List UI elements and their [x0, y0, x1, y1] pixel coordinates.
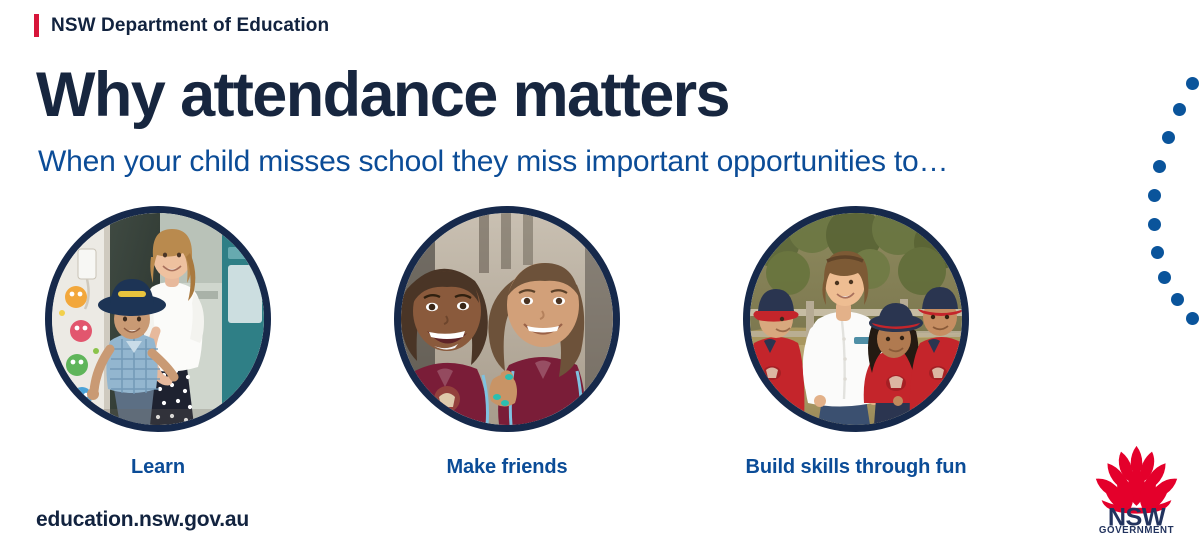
photo-build-skills: [750, 213, 962, 425]
decor-dot: [1162, 131, 1175, 144]
photo-make-friends: [401, 213, 613, 425]
nsw-government-logo: NSW GOVERNMENT: [1088, 440, 1185, 533]
page-title: Why attendance matters: [36, 58, 729, 132]
photo-card-make-friends: Make friends: [394, 206, 620, 432]
nsw-logo-line2: GOVERNMENT: [1099, 525, 1174, 533]
decor-dot: [1148, 189, 1161, 202]
website-url[interactable]: education.nsw.gov.au: [36, 508, 249, 532]
photo-caption-learn: Learn: [45, 456, 271, 479]
decor-dot: [1153, 160, 1166, 173]
photo-circles-row: Learn: [0, 206, 1200, 432]
photo-caption-make-friends: Make friends: [394, 456, 620, 479]
photo-circle-ring: [743, 206, 969, 432]
photo-circle-ring: [394, 206, 620, 432]
page-subtitle: When your child misses school they miss …: [38, 143, 948, 181]
brand-header: NSW Department of Education: [34, 14, 329, 37]
photo-caption-build-skills: Build skills through fun: [743, 456, 969, 479]
photo-card-learn: Learn: [45, 206, 271, 432]
photo-card-build-skills: Build skills through fun: [743, 206, 969, 432]
photo-learn: [52, 213, 264, 425]
brand-name: NSW Department of Education: [51, 15, 329, 37]
photo-circle-ring: [45, 206, 271, 432]
poster-canvas: NSW Department of Education Why attendan…: [0, 0, 1200, 555]
decor-dot: [1186, 77, 1199, 90]
decor-dot: [1173, 103, 1186, 116]
red-accent-bar-icon: [34, 14, 39, 37]
